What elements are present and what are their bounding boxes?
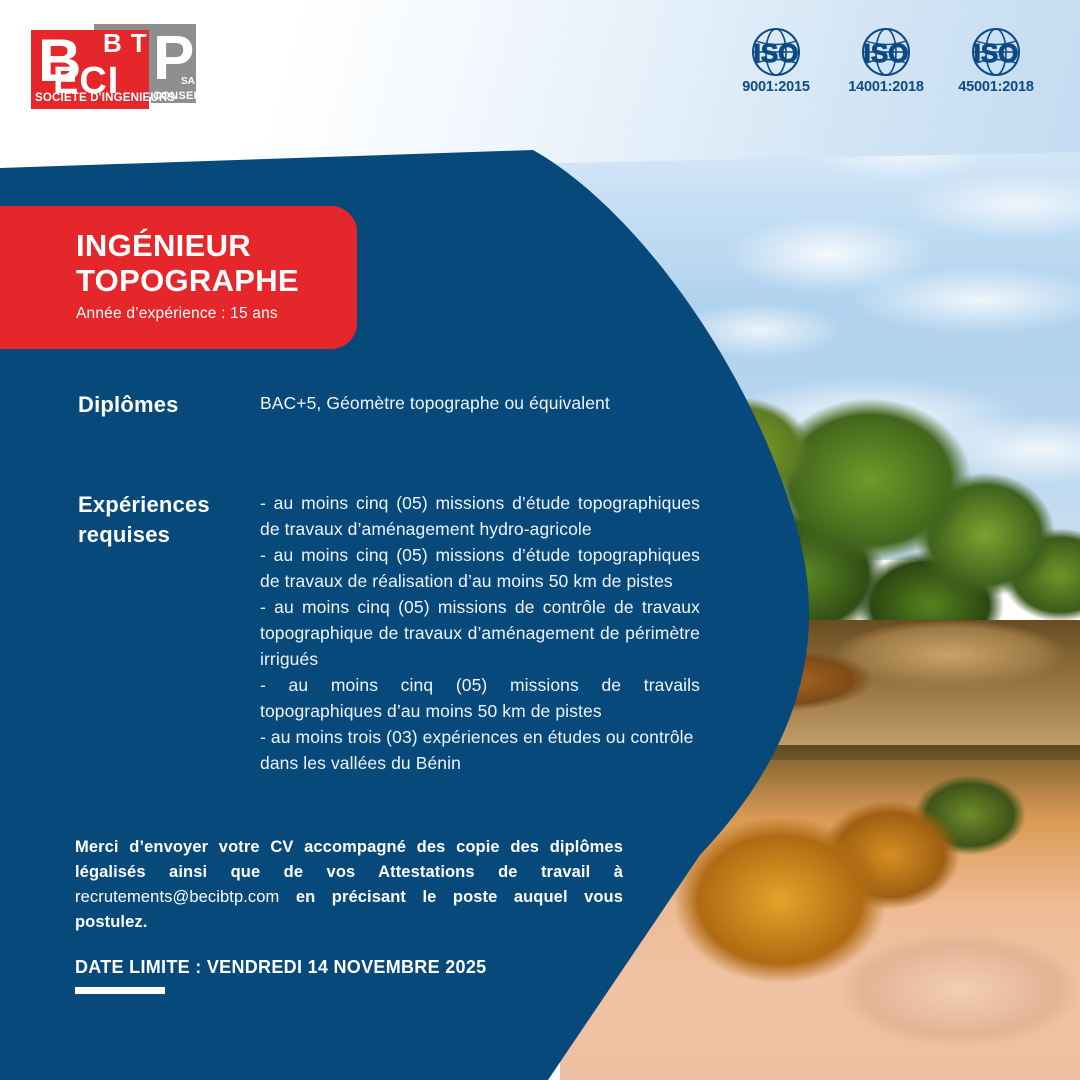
list-item: - au moins cinq (05) missions de contrôl…: [260, 594, 700, 672]
list-item: - au moins cinq (05) missions d’étude to…: [260, 542, 700, 594]
job-title-line-2: TOPOGRAPHE: [76, 263, 357, 298]
application-instructions-part-1: Merci d’envoyer votre CV accompagné des …: [75, 838, 623, 881]
job-title: INGÉNIEUR TOPOGRAPHE: [76, 228, 357, 298]
iso-badge: ISO 14001:2018: [846, 26, 926, 95]
section-label-experiences-line-1: Expériences: [78, 490, 260, 520]
iso-globe-icon: ISO: [744, 26, 808, 78]
section-bullets-experiences: - au moins cinq (05) missions d’étude to…: [260, 490, 700, 776]
section-diplomes: Diplômes BAC+5, Géomètre topographe ou é…: [78, 390, 700, 420]
iso-globe-icon: ISO: [854, 26, 918, 78]
list-item: - au moins trois (03) expériences en étu…: [260, 724, 700, 776]
iso-standard-label: 9001:2015: [736, 79, 816, 95]
section-label-diplomes: Diplômes: [78, 390, 260, 420]
application-instructions: Merci d’envoyer votre CV accompagné des …: [75, 835, 623, 935]
job-posting-poster: B ECI SOCIETE D'INGENIEURS BT P SA CONSE…: [0, 0, 1080, 1080]
deadline-text: DATE LIMITE : VENDREDI 14 NOVEMBRE 2025: [75, 957, 486, 978]
deadline-underline-bar: [75, 987, 165, 994]
section-text-diplomes: BAC+5, Géomètre topographe ou équivalent: [260, 390, 700, 420]
list-item: - au moins cinq (05) missions de travail…: [260, 672, 700, 724]
svg-text:ISO: ISO: [864, 38, 909, 68]
application-email[interactable]: recrutements@becibtp.com: [75, 888, 279, 906]
job-title-line-1: INGÉNIEUR: [76, 228, 357, 263]
svg-text:ISO: ISO: [974, 38, 1019, 68]
svg-text:ISO: ISO: [754, 38, 799, 68]
logo-sa-text: SA: [181, 76, 195, 87]
section-experiences: Expériences requises - au moins cinq (05…: [78, 490, 700, 776]
iso-badge: ISO 9001:2015: [736, 26, 816, 95]
iso-globe-icon: ISO: [964, 26, 1028, 78]
section-label-experiences: Expériences requises: [78, 490, 260, 776]
iso-badge: ISO 45001:2018: [956, 26, 1036, 95]
job-title-banner: INGÉNIEUR TOPOGRAPHE Année d’expérience …: [0, 206, 357, 349]
section-label-experiences-line-2: requises: [78, 520, 260, 550]
job-experience-label: Année d’expérience : 15 ans: [76, 305, 357, 323]
iso-standard-label: 14001:2018: [846, 79, 926, 95]
becibtp-logo: B ECI SOCIETE D'INGENIEURS BT P SA CONSE…: [31, 24, 197, 109]
logo-letters-bt: BT: [103, 28, 156, 59]
list-item: - au moins cinq (05) missions d’étude to…: [260, 490, 700, 542]
logo-conseils-text: CONSEILS: [153, 90, 212, 102]
iso-certifications: ISO 9001:2015 ISO 14001:2018: [736, 26, 1036, 95]
iso-standard-label: 45001:2018: [956, 79, 1036, 95]
